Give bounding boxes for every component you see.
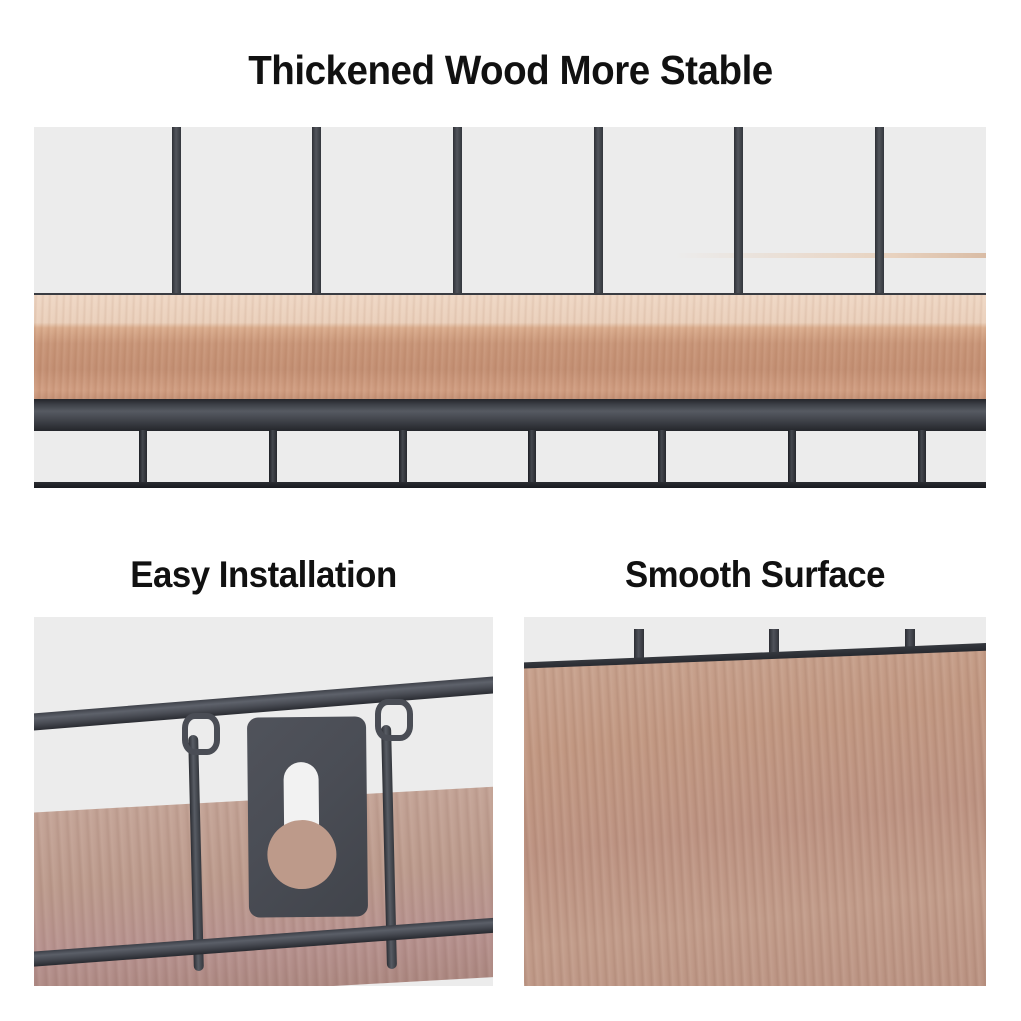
wood-board <box>34 295 986 401</box>
thickened-wood-panel <box>34 127 986 488</box>
vertical-wire-upper-1 <box>172 127 181 301</box>
vertical-wire-upper-4 <box>594 127 603 301</box>
vertical-wire-lower-1 <box>139 430 147 488</box>
section-title-surface: Smooth Surface <box>538 554 972 596</box>
vertical-wire-upper-6 <box>875 127 884 301</box>
vertical-wire-lower-6 <box>788 430 796 488</box>
vertical-wire-upper-3 <box>453 127 462 301</box>
vertical-wire-upper-5 <box>734 127 743 301</box>
page-title: Thickened Wood More Stable <box>31 47 991 94</box>
vertical-wire-lower-4 <box>528 430 536 488</box>
wire-hook-loop-2 <box>375 699 413 741</box>
wire-hook-loop-1 <box>182 713 220 755</box>
wood-edge-highlight <box>674 253 986 258</box>
section-title-installation: Easy Installation <box>48 554 479 596</box>
vertical-wire-lower-2 <box>269 430 277 488</box>
vertical-wire-lower-5 <box>658 430 666 488</box>
keyhole-circle <box>267 820 337 890</box>
vertical-wire-lower-3 <box>399 430 407 488</box>
smooth-wood-surface <box>524 650 986 986</box>
horizontal-rod <box>34 399 986 431</box>
keyhole-bracket-icon <box>247 716 368 917</box>
vertical-wire-lower-7 <box>918 430 926 488</box>
bottom-rail-wire <box>34 482 986 488</box>
vertical-wire-upper-2 <box>312 127 321 301</box>
smooth-surface-panel <box>524 617 986 986</box>
